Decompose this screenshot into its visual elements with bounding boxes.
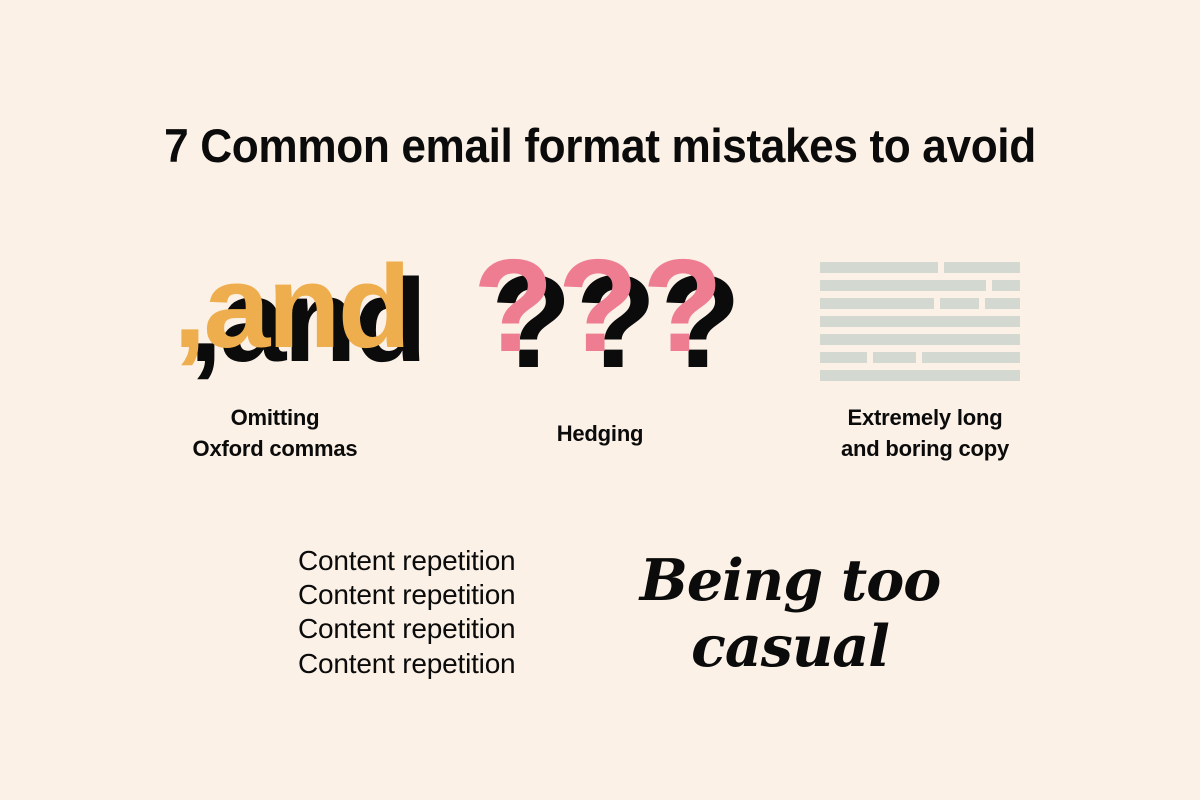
copy-block-segment [992, 280, 1020, 291]
page-title: 7 Common email format mistakes to avoid [36, 118, 1164, 173]
card-caption: Omitting Oxford commas [105, 402, 445, 464]
mistakes-bottom-row: Content repetitionContent repetitionCont… [0, 530, 1200, 710]
mistake-card-omitting-oxford-commas: ,and ,and Omitting Oxford commas [105, 240, 445, 470]
card-caption-line-2: and boring copy [755, 433, 1095, 464]
card-caption-line-1: Extremely long [755, 402, 1095, 433]
card-caption: Extremely long and boring copy [755, 402, 1095, 464]
copy-block-row [820, 316, 1020, 327]
copy-block-row [820, 352, 1020, 363]
card-caption: Hedging [430, 418, 770, 449]
copy-block-segment [985, 298, 1020, 309]
art-copy-block [755, 240, 1095, 380]
question-marks-stack: ??? ??? [430, 240, 770, 380]
copy-block-row [820, 370, 1020, 381]
copy-block-segment [873, 352, 916, 363]
copy-block-segment [820, 334, 1020, 345]
card-caption-line-1: Omitting [105, 402, 445, 433]
content-repetition-line: Content repetition [298, 544, 515, 578]
copy-block-segment [820, 316, 1020, 327]
being-too-casual-line-1: Being too [630, 548, 950, 614]
copy-block-segment [820, 280, 986, 291]
card-caption-line-2: Oxford commas [105, 433, 445, 464]
being-too-casual-line-2: casual [630, 614, 950, 680]
copy-block-lines [820, 262, 1020, 388]
art-question-marks: ??? ??? [430, 240, 770, 380]
content-repetition-line: Content repetition [298, 578, 515, 612]
copy-block-segment [820, 370, 1020, 381]
content-repetition-line: Content repetition [298, 612, 515, 646]
copy-block-segment [820, 352, 867, 363]
copy-block-row [820, 280, 1020, 291]
mistake-card-long-boring-copy: Extremely long and boring copy [755, 240, 1095, 470]
copy-block-segment [922, 352, 1020, 363]
copy-block-segment [820, 298, 934, 309]
copy-block-row [820, 298, 1020, 309]
copy-block-segment [940, 298, 979, 309]
mistake-card-hedging: ??? ??? Hedging [430, 240, 770, 470]
infographic-canvas: 7 Common email format mistakes to avoid … [0, 0, 1200, 800]
card-caption-line-1: Hedging [430, 418, 770, 449]
copy-block-row [820, 334, 1020, 345]
copy-block-row [820, 262, 1020, 273]
art-comma-and: ,and ,and [105, 240, 445, 380]
question-marks-front-layer: ??? [430, 240, 770, 372]
mistakes-top-row: ,and ,and Omitting Oxford commas ??? ???… [0, 240, 1200, 470]
content-repetition-block: Content repetitionContent repetitionCont… [298, 544, 515, 681]
being-too-casual-block: Being too casual [630, 548, 950, 680]
content-repetition-line: Content repetition [298, 647, 515, 681]
copy-block-segment [820, 262, 938, 273]
copy-block-segment [944, 262, 1020, 273]
comma-and-front-layer: ,and [173, 248, 408, 366]
